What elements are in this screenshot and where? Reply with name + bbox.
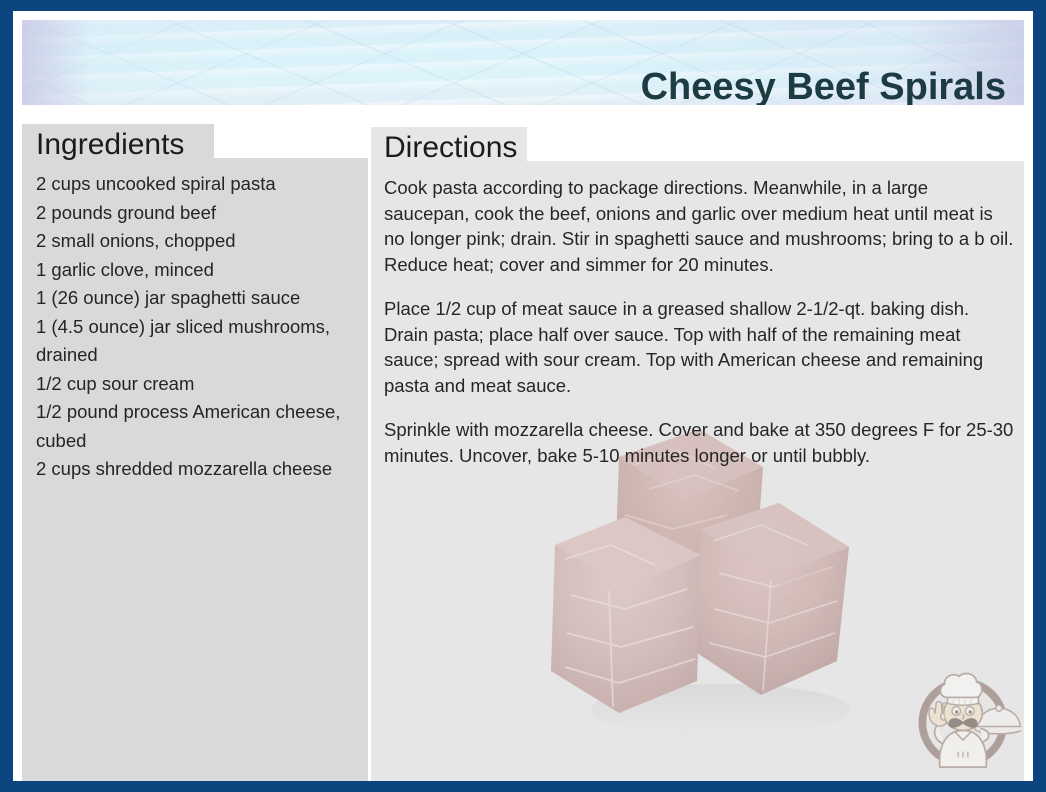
directions-heading-tab: Directions (371, 127, 527, 169)
list-item: 1 (26 ounce) jar spaghetti sauce (36, 284, 358, 313)
directions-paragraph: Place 1/2 cup of meat sauce in a greased… (384, 296, 1018, 398)
directions-paragraph: Cook pasta according to package directio… (384, 175, 1018, 277)
list-item: 2 pounds ground beef (36, 199, 358, 228)
ingredients-heading: Ingredients (36, 128, 184, 162)
list-item: 1/2 cup sour cream (36, 370, 358, 399)
recipe-card: Cheesy Beef Spirals Ingredients 2 cups u… (0, 0, 1046, 792)
list-item: 2 small onions, chopped (36, 227, 358, 256)
ingredients-heading-tab: Ingredients (22, 124, 214, 166)
recipe-page: Cheesy Beef Spirals Ingredients 2 cups u… (13, 11, 1033, 781)
directions-paragraph: Sprinkle with mozzarella cheese. Cover a… (384, 417, 1018, 468)
list-item: 1 (4.5 ounce) jar sliced mushrooms, drai… (36, 313, 358, 370)
list-item: 1/2 pound process American cheese, cubed (36, 398, 358, 455)
list-item: 2 cups shredded mozzarella cheese (36, 455, 358, 484)
ingredients-panel: Ingredients 2 cups uncooked spiral pasta… (22, 124, 368, 781)
chef-mascot-logo (905, 655, 1021, 771)
list-item: 2 cups uncooked spiral pasta (36, 170, 358, 199)
list-item: 1 garlic clove, minced (36, 256, 358, 285)
ingredients-list: 2 cups uncooked spiral pasta 2 pounds gr… (36, 170, 358, 484)
directions-text: Cook pasta according to package directio… (384, 175, 1018, 468)
header-banner: Cheesy Beef Spirals (22, 20, 1024, 105)
page-title: Cheesy Beef Spirals (641, 65, 1006, 105)
directions-heading: Directions (384, 131, 517, 165)
